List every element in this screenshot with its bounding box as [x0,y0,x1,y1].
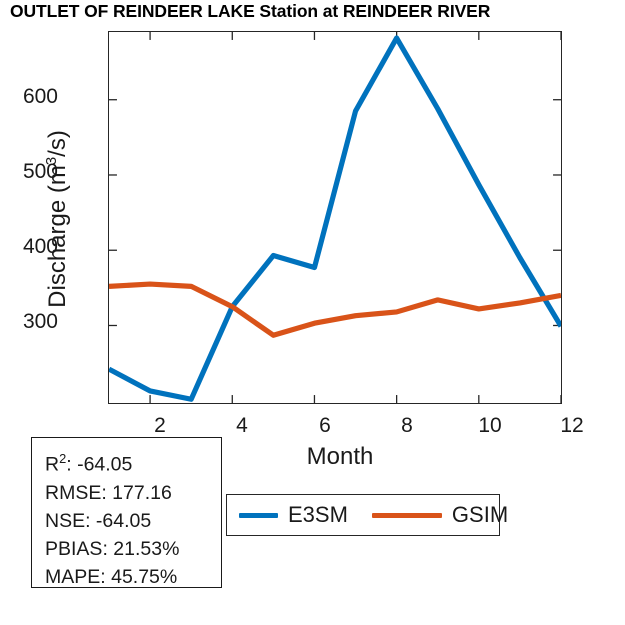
stat-r2-prefix: R [45,454,59,476]
stat-r2-value: : -64.05 [66,454,132,476]
legend-swatch-e3sm [239,513,278,518]
stat-mape: MAPE: 45.75% [45,563,221,591]
y-axis-label-suffix: /s) [44,130,71,157]
legend-label-e3sm: E3SM [288,502,348,528]
stat-pbias: PBIAS: 21.53% [45,535,221,563]
legend-swatch-gsim [372,513,442,518]
y-axis-label: Discharge (m3/s) [44,54,72,384]
chart-title: OUTLET OF REINDEER LAKE Station at REIND… [10,1,625,22]
x-axis-label: Month [220,443,460,471]
x-tick-8: 8 [377,415,437,436]
x-tick-2: 2 [130,415,190,436]
x-tick-4: 4 [212,415,272,436]
legend-entry-e3sm[interactable]: E3SM [239,502,348,528]
stat-nse: NSE: -64.05 [45,507,221,535]
legend: E3SM GSIM [226,494,500,536]
statistics-box: R2: -64.05 RMSE: 177.16 NSE: -64.05 PBIA… [31,437,222,588]
y-axis-label-exponent: 3 [44,157,60,165]
x-tick-6: 6 [295,415,355,436]
data-lines-svg [109,32,561,403]
figure-canvas: OUTLET OF REINDEER LAKE Station at REIND… [0,0,625,625]
stat-r2: R2: -64.05 [45,445,221,479]
legend-entry-gsim[interactable]: GSIM [372,502,508,528]
x-tick-12: 12 [542,415,602,436]
legend-label-gsim: GSIM [452,502,508,528]
plot-area [108,31,562,404]
x-tick-10: 10 [460,415,520,436]
stat-rmse: RMSE: 177.16 [45,479,221,507]
y-axis-label-prefix: Discharge (m [44,165,71,308]
